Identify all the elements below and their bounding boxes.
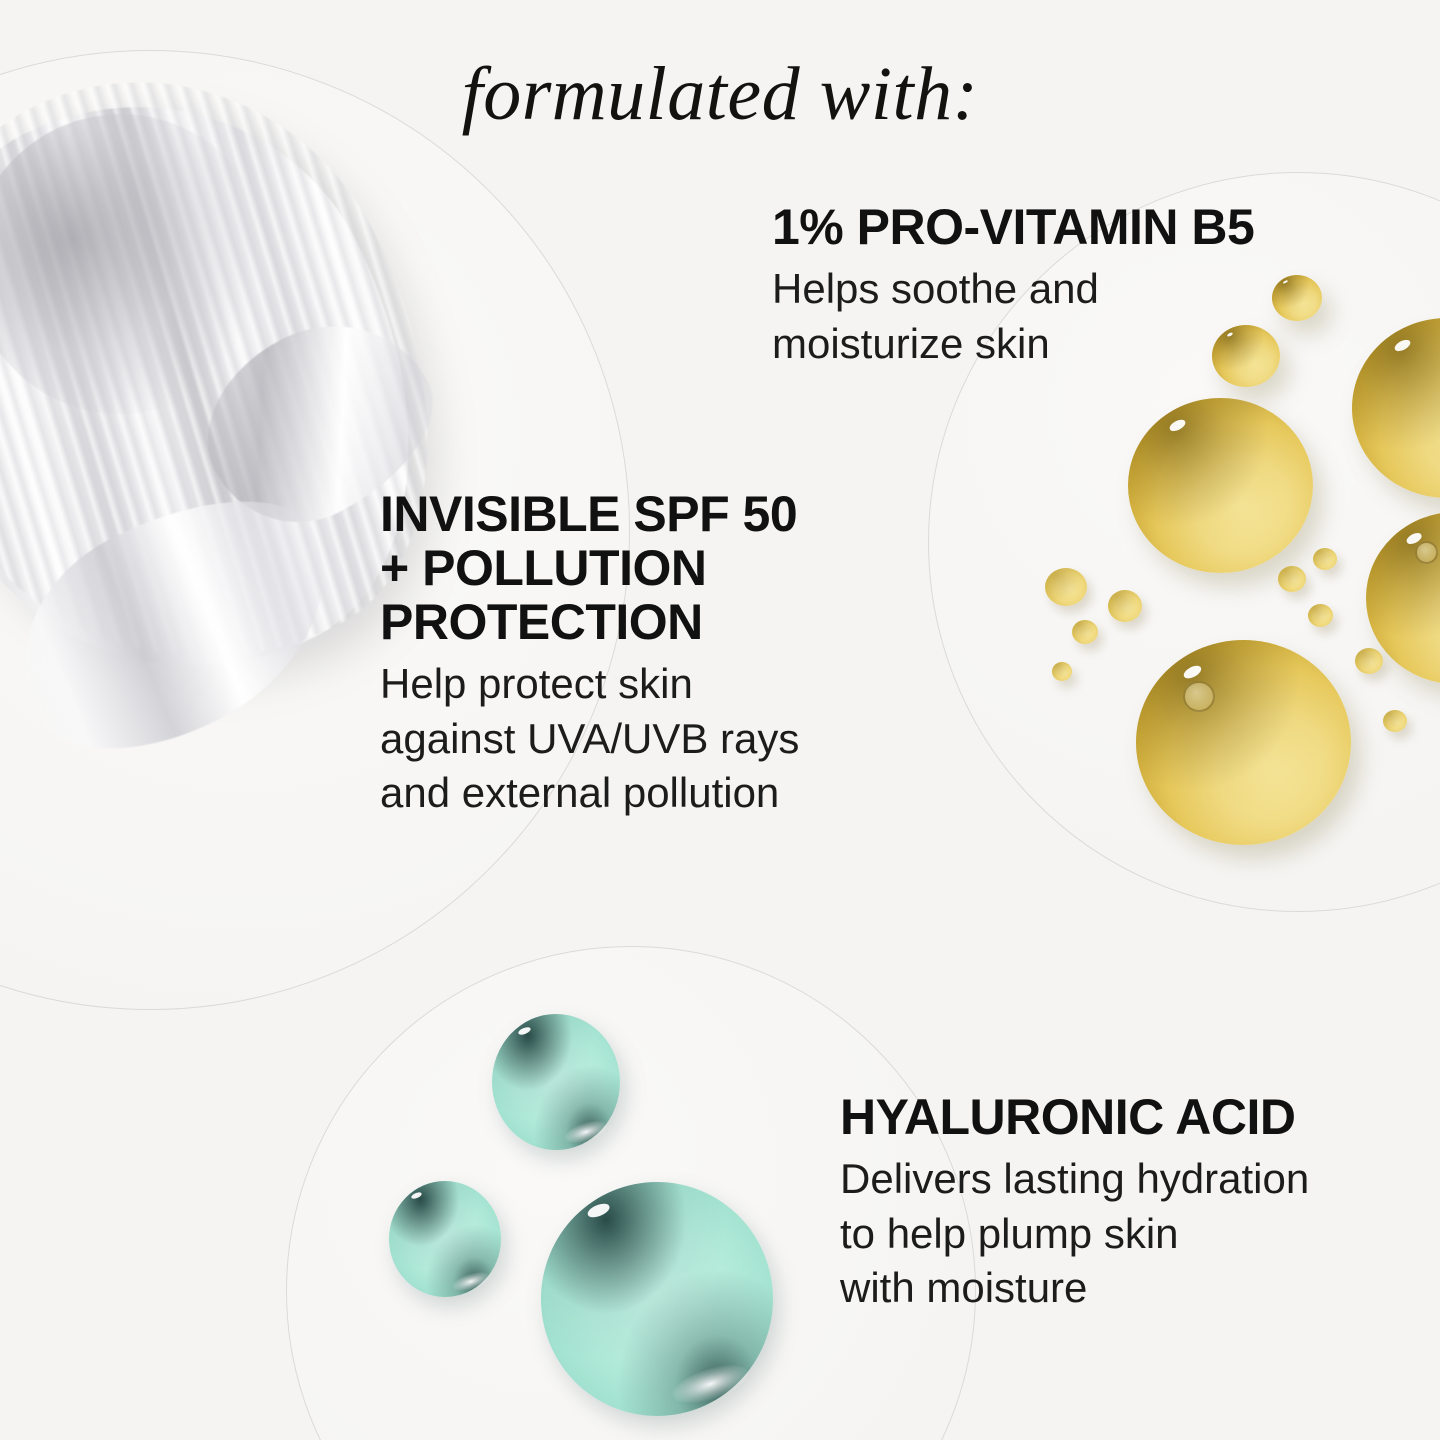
oil-droplet-small <box>1313 548 1337 570</box>
ingredient-block-invisible-spf-50: INVISIBLE SPF 50 + POLLUTION PROTECTION … <box>380 487 900 821</box>
oil-droplet-large <box>1136 640 1351 845</box>
ingredient-description: Help protect skin against UVA/UVB rays a… <box>380 657 900 821</box>
oil-droplet-small <box>1383 710 1407 732</box>
oil-droplet-small <box>1308 604 1333 627</box>
oil-bubble <box>1183 681 1215 712</box>
oil-droplet-small <box>1108 590 1142 622</box>
page-title: formulated with: <box>0 56 1440 132</box>
ingredient-description: Delivers lasting hydration to help plump… <box>840 1152 1420 1316</box>
oil-droplet-small <box>1052 662 1072 681</box>
oil-droplet-small <box>1045 568 1087 606</box>
ingredient-block-pro-vitamin-b5: 1% PRO-VITAMIN B5 Helps soothe and moist… <box>772 200 1372 371</box>
ingredient-block-hyaluronic-acid: HYALURONIC ACID Delivers lasting hydrati… <box>840 1090 1420 1316</box>
infographic-canvas: formulated with: 1% PRO-VITAMIN B5 Helps… <box>0 0 1440 1440</box>
oil-droplet-small <box>1278 566 1306 592</box>
oil-droplet-large <box>1128 398 1313 573</box>
water-droplet-small <box>389 1181 501 1297</box>
oil-droplet-small <box>1355 648 1383 674</box>
water-droplet-medium <box>492 1014 620 1150</box>
ingredient-title: HYALURONIC ACID <box>840 1090 1420 1144</box>
ingredient-title: INVISIBLE SPF 50 + POLLUTION PROTECTION <box>380 487 900 649</box>
oil-droplet-small <box>1072 620 1098 644</box>
oil-bubble <box>1415 541 1439 564</box>
water-droplet-large <box>541 1182 773 1416</box>
ingredient-description: Helps soothe and moisturize skin <box>772 262 1372 371</box>
ingredient-title: 1% PRO-VITAMIN B5 <box>772 200 1372 254</box>
